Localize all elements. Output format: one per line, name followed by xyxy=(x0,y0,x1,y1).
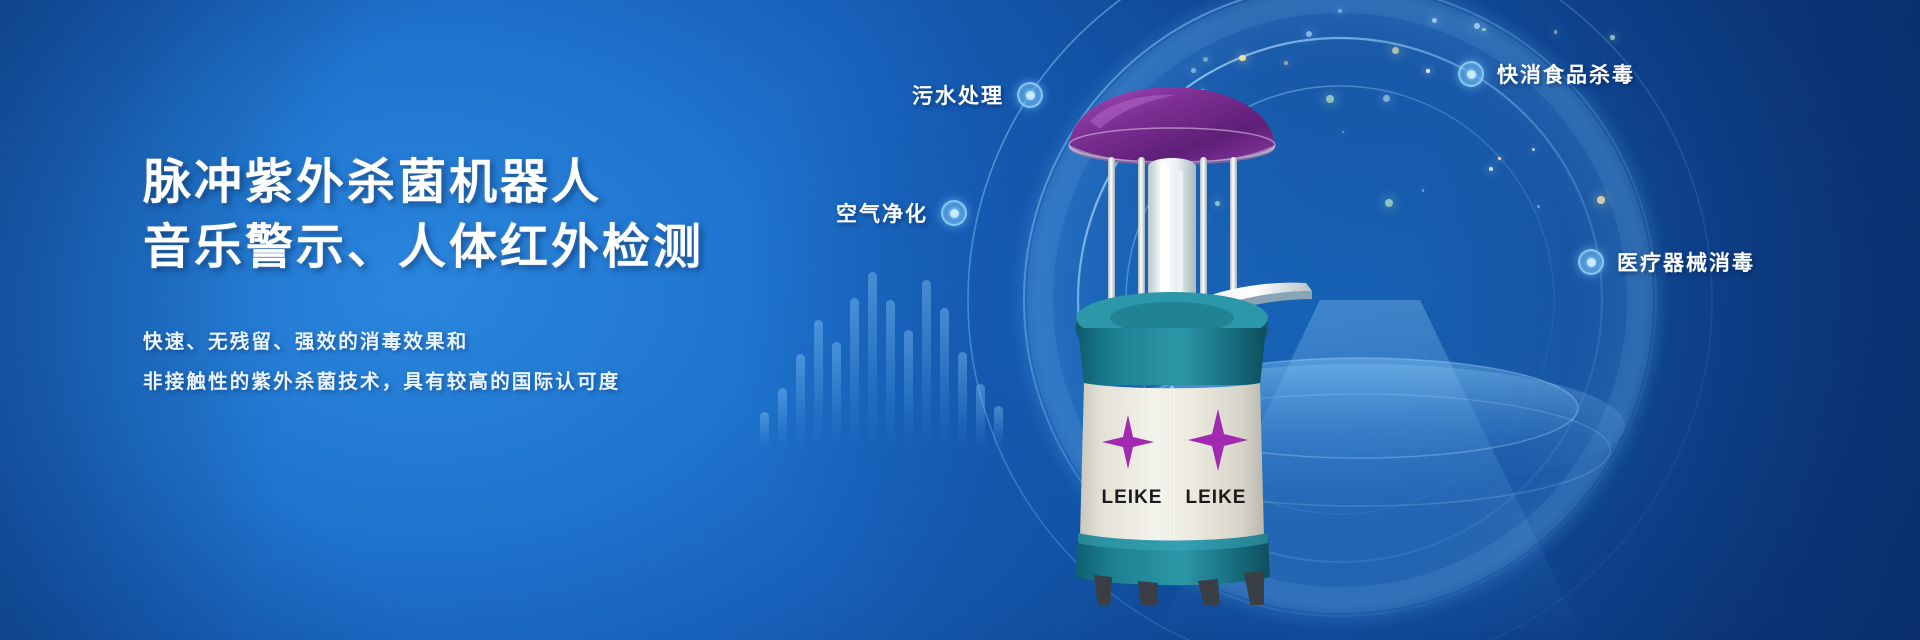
equalizer-bar xyxy=(940,308,949,450)
ring-dot-icon xyxy=(1458,61,1484,87)
equalizer-bar xyxy=(958,352,967,450)
callout-food-label: 快消食品杀毒 xyxy=(1497,59,1635,89)
ring-dot-icon xyxy=(941,200,967,226)
sparkle-particle xyxy=(1597,196,1605,204)
equalizer-bar xyxy=(850,298,859,450)
copy-block: 脉冲紫外杀菌机器人 音乐警示、人体红外检测 快速、无残留、强效的消毒效果和 非接… xyxy=(143,150,843,402)
callout-air-label: 空气净化 xyxy=(836,198,928,228)
headline-line-1: 脉冲紫外杀菌机器人 xyxy=(143,150,843,215)
sparkle-particle xyxy=(1532,148,1536,152)
subcopy-line-2: 非接触性的紫外杀菌技术，具有较高的国际认可度 xyxy=(143,363,843,403)
sparkle-particle xyxy=(1338,9,1342,13)
sparkle-particle xyxy=(1392,47,1399,54)
headline-line-2: 音乐警示、人体红外检测 xyxy=(143,215,843,280)
equalizer-bar xyxy=(976,384,985,450)
sparkle-particle xyxy=(1203,57,1208,62)
sparkle-particle xyxy=(1554,30,1557,33)
ring-dot-icon xyxy=(1578,249,1604,275)
equalizer-bar xyxy=(868,272,877,450)
disinfection-robot-illustration: LEIKE LEIKE xyxy=(1020,85,1350,605)
callout-medical-equipment[interactable]: 医疗器械消毒 xyxy=(1578,247,1755,277)
subcopy-line-1: 快速、无残留、强效的消毒效果和 xyxy=(143,323,843,363)
equalizer-bar xyxy=(904,330,913,450)
sparkle-particle xyxy=(1239,55,1245,61)
sparkle-particle xyxy=(1610,35,1615,40)
ring-dot-icon xyxy=(1017,82,1043,108)
sparkle-particle xyxy=(1306,31,1312,37)
sparkle-particle xyxy=(1482,28,1485,31)
sparkle-particle xyxy=(1426,69,1429,72)
sparkle-particle xyxy=(1385,199,1393,207)
sparkle-particle xyxy=(1432,18,1437,23)
callout-wastewater-label: 污水处理 xyxy=(912,80,1004,110)
sparkle-particle xyxy=(1191,68,1196,73)
sparkle-particle xyxy=(1422,189,1424,191)
callout-food-disinfection[interactable]: 快消食品杀毒 xyxy=(1458,59,1635,89)
promo-banner: LEIKE LEIKE 脉冲紫外杀菌机器人 音乐警示、人体红外检测 快速、无残留… xyxy=(0,0,1920,640)
sparkle-particle xyxy=(1498,157,1501,160)
callout-medical-label: 医疗器械消毒 xyxy=(1617,247,1755,277)
sparkle-particle xyxy=(1284,61,1288,65)
equalizer-bar xyxy=(922,280,931,450)
sparkle-particle xyxy=(1383,95,1390,102)
uv-dome xyxy=(1069,87,1275,165)
brand-label-left: LEIKE xyxy=(1102,487,1163,508)
subcopy: 快速、无残留、强效的消毒效果和 非接触性的紫外杀菌技术，具有较高的国际认可度 xyxy=(143,323,843,403)
equalizer-bar xyxy=(994,406,1003,450)
headline: 脉冲紫外杀菌机器人 音乐警示、人体红外检测 xyxy=(143,150,843,281)
sparkle-particle xyxy=(1489,167,1493,171)
equalizer-bar xyxy=(886,300,895,450)
sparkle-particle xyxy=(1537,205,1540,208)
device-body: LEIKE LEIKE xyxy=(1078,328,1266,543)
callout-wastewater[interactable]: 污水处理 xyxy=(912,80,1043,110)
callout-air-purification[interactable]: 空气净化 xyxy=(836,198,967,228)
equalizer-bar xyxy=(760,412,769,450)
sparkle-particle xyxy=(1474,23,1481,30)
brand-label-right: LEIKE xyxy=(1186,487,1247,508)
